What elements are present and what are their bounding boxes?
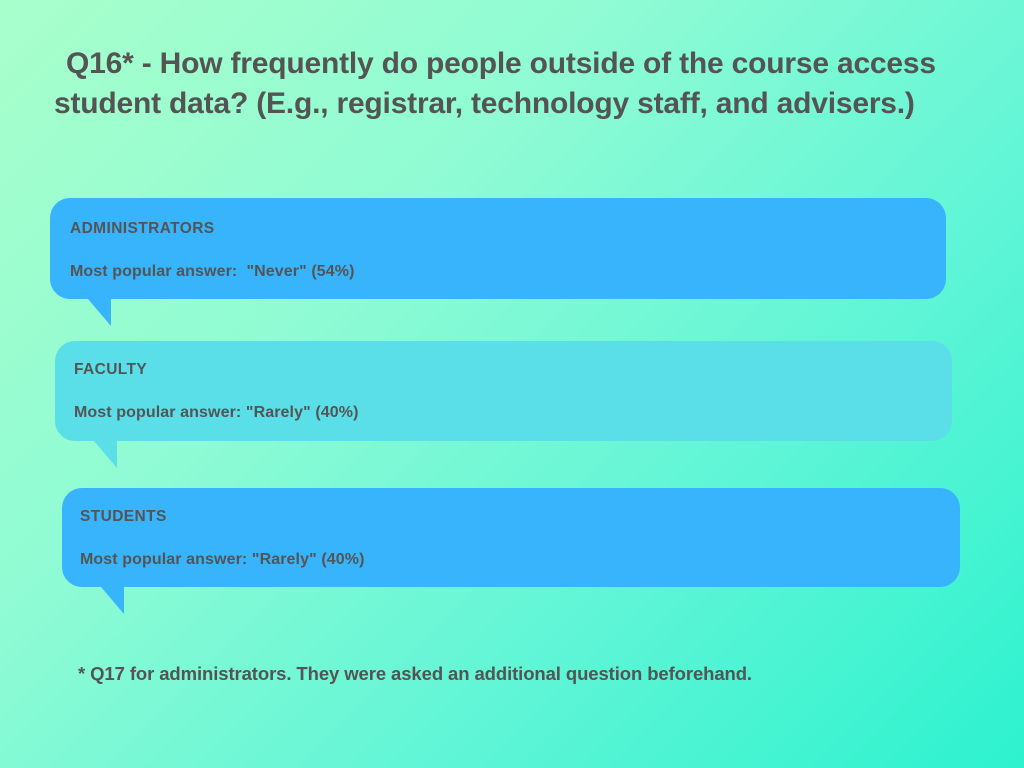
title-line-2: student data? (E.g., registrar, technolo…	[54, 84, 970, 124]
footnote-text: * Q17 for administrators. They were aske…	[78, 663, 978, 685]
bubble-answer-text: Most popular answer: "Never" (54%)	[70, 263, 355, 281]
speech-bubble-students: STUDENTS Most popular answer: "Rarely" (…	[62, 488, 960, 587]
bubble-group-label: ADMINISTRATORS	[70, 220, 215, 238]
bubble-group-label: STUDENTS	[80, 508, 167, 526]
bubble-answer-text: Most popular answer: "Rarely" (40%)	[80, 551, 365, 569]
slide-canvas: Q16* - How frequently do people outside …	[0, 0, 1024, 768]
page-title: Q16* - How frequently do people outside …	[54, 44, 970, 123]
bubble-answer-text: Most popular answer: "Rarely" (40%)	[74, 404, 359, 422]
title-line-1: Q16* - How frequently do people outside …	[54, 44, 970, 84]
speech-bubble-tail-icon	[94, 441, 117, 468]
bubble-group-label: FACULTY	[74, 361, 147, 379]
speech-bubble-tail-icon	[101, 587, 124, 614]
speech-bubble-faculty: FACULTY Most popular answer: "Rarely" (4…	[55, 341, 952, 441]
speech-bubble-tail-icon	[88, 299, 111, 326]
speech-bubble-administrators: ADMINISTRATORS Most popular answer: "Nev…	[50, 198, 946, 299]
